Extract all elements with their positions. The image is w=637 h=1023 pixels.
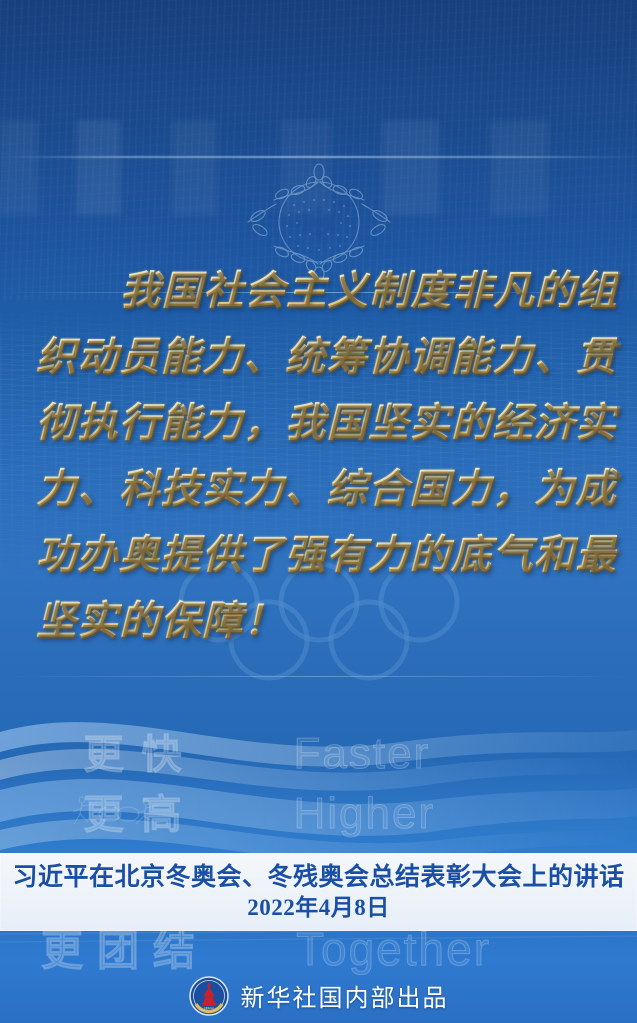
caption-date: 2022年4月8日	[247, 895, 390, 920]
poster-root: 我国社会主义制度非凡的组 织动员能力、统筹协调能力、贯 彻执行能力，我国坚实的经…	[0, 0, 637, 1023]
quote-line: 我国社会主义制度非凡的组	[120, 268, 618, 313]
caption-title: 习近平在北京冬奥会、冬残奥会总结表彰大会上的讲话	[12, 864, 624, 892]
quote-line: 彻执行能力，我国坚实的经济实	[36, 400, 617, 445]
quote-line: 织动员能力、统筹协调能力、贯	[36, 334, 617, 379]
quote-line: 力、科技实力、综合国力，为成	[36, 466, 617, 511]
footer-brand: 新华社国内部出品	[241, 978, 449, 1013]
xinhua-news-agency-logo-icon: XINHUA	[189, 976, 229, 1016]
caption-band: 习近平在北京冬奥会、冬残奥会总结表彰大会上的讲话 2022年4月8日	[0, 853, 637, 931]
svg-text:XINHUA: XINHUA	[204, 1006, 214, 1010]
quote-block: 我国社会主义制度非凡的组 织动员能力、统筹协调能力、贯 彻执行能力，我国坚实的经…	[36, 258, 607, 654]
quote-line: 坚实的保障！	[36, 598, 285, 643]
footer: XINHUA 新华社国内部出品	[0, 968, 637, 1023]
quote-line: 功办奥提供了强有力的底气和最	[36, 532, 617, 577]
stadium-rim-highlight	[0, 156, 637, 158]
skater-doodle-icon	[70, 790, 190, 840]
